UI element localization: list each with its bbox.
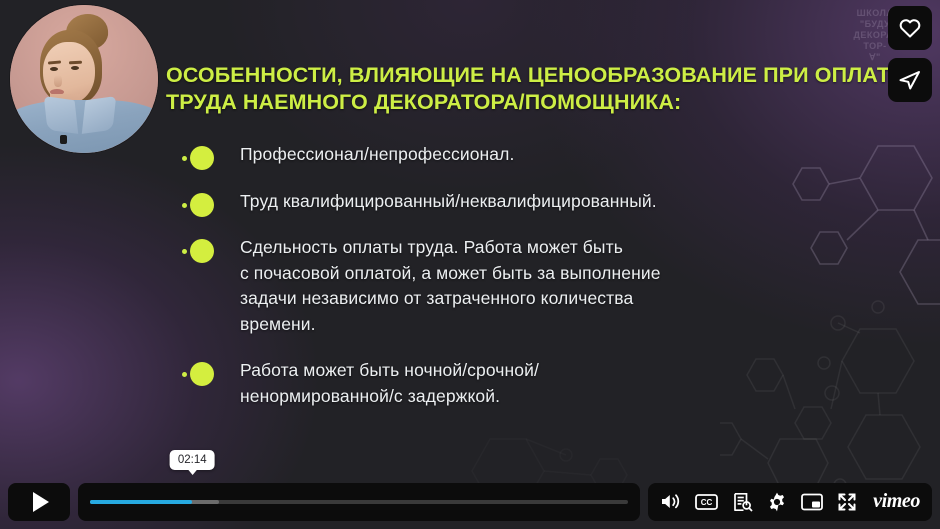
- bullet-item: Работа может быть ночной/срочной/ ненорм…: [182, 358, 882, 409]
- like-button[interactable]: [888, 6, 932, 50]
- bullet-small-dot-icon: [182, 156, 187, 161]
- bullet-text: Труд квалифицированный/неквалифицированн…: [240, 189, 657, 215]
- player-top-actions: [888, 6, 932, 102]
- transcript-search-icon: [732, 492, 753, 512]
- bullet-item: Сдельность оплаты труда. Работа может бы…: [182, 235, 882, 337]
- bullet-marker: [182, 358, 240, 364]
- vimeo-logo[interactable]: vimeo: [871, 490, 920, 513]
- slide-bullet-list: Профессионал/непрофессионал. Труд квалиф…: [182, 142, 882, 430]
- bullet-small-dot-icon: [182, 203, 187, 208]
- vimeo-video-player[interactable]: ШКОЛА "БУДУ ДЕКОРА- ТОР- ∀" ОСОБЕННОСТИ,: [0, 0, 940, 529]
- seek-track[interactable]: 02:14: [90, 500, 628, 504]
- bullet-small-dot-icon: [182, 249, 187, 254]
- seek-bar[interactable]: 02:14: [78, 483, 640, 521]
- slide-title: ОСОБЕННОСТИ, ВЛИЯЮЩИЕ НА ЦЕНООБРАЗОВАНИЕ…: [166, 62, 926, 116]
- bullet-small-dot-icon: [182, 372, 187, 377]
- transcript-button[interactable]: [732, 492, 753, 512]
- share-button[interactable]: [888, 58, 932, 102]
- settings-button[interactable]: [767, 492, 787, 512]
- bullet-text: Сдельность оплаты труда. Работа может бы…: [240, 235, 661, 337]
- lavalier-microphone: [60, 135, 67, 144]
- bullet-circle-icon: [190, 146, 214, 170]
- volume-button[interactable]: [660, 492, 681, 511]
- volume-icon: [660, 492, 681, 511]
- seek-played: [90, 500, 192, 504]
- fullscreen-icon: [837, 492, 857, 512]
- svg-text:CC: CC: [701, 498, 713, 507]
- share-paper-plane-icon: [898, 69, 922, 91]
- bullet-marker: [182, 189, 240, 195]
- fullscreen-button[interactable]: [837, 492, 857, 512]
- picture-in-picture-button[interactable]: [801, 493, 823, 511]
- presenter-webcam-bubble: [10, 5, 158, 153]
- bullet-item: Труд квалифицированный/неквалифицированн…: [182, 189, 882, 215]
- bullet-circle-icon: [190, 239, 214, 263]
- pip-icon: [801, 493, 823, 511]
- presenter-nose: [54, 75, 62, 87]
- player-right-controls: CC: [648, 483, 932, 521]
- presenter-brow-right: [69, 60, 82, 64]
- presentation-slide: ШКОЛА "БУДУ ДЕКОРА- ТОР- ∀" ОСОБЕННОСТИ,: [0, 0, 940, 529]
- cc-icon: CC: [695, 493, 718, 511]
- gear-icon: [767, 492, 787, 512]
- bullet-marker: [182, 235, 240, 241]
- bullet-item: Профессионал/непрофессионал.: [182, 142, 882, 168]
- captions-button[interactable]: CC: [695, 493, 718, 511]
- play-button[interactable]: [8, 483, 70, 521]
- bullet-circle-icon: [190, 193, 214, 217]
- player-controls-bar: 02:14 CC: [0, 480, 940, 529]
- time-tooltip: 02:14: [170, 450, 215, 470]
- bullet-circle-icon: [190, 362, 214, 386]
- bullet-marker: [182, 142, 240, 148]
- heart-icon: [898, 17, 922, 39]
- bullet-text: Профессионал/непрофессионал.: [240, 142, 514, 168]
- bullet-text: Работа может быть ночной/срочной/ ненорм…: [240, 358, 539, 409]
- play-icon: [33, 492, 49, 512]
